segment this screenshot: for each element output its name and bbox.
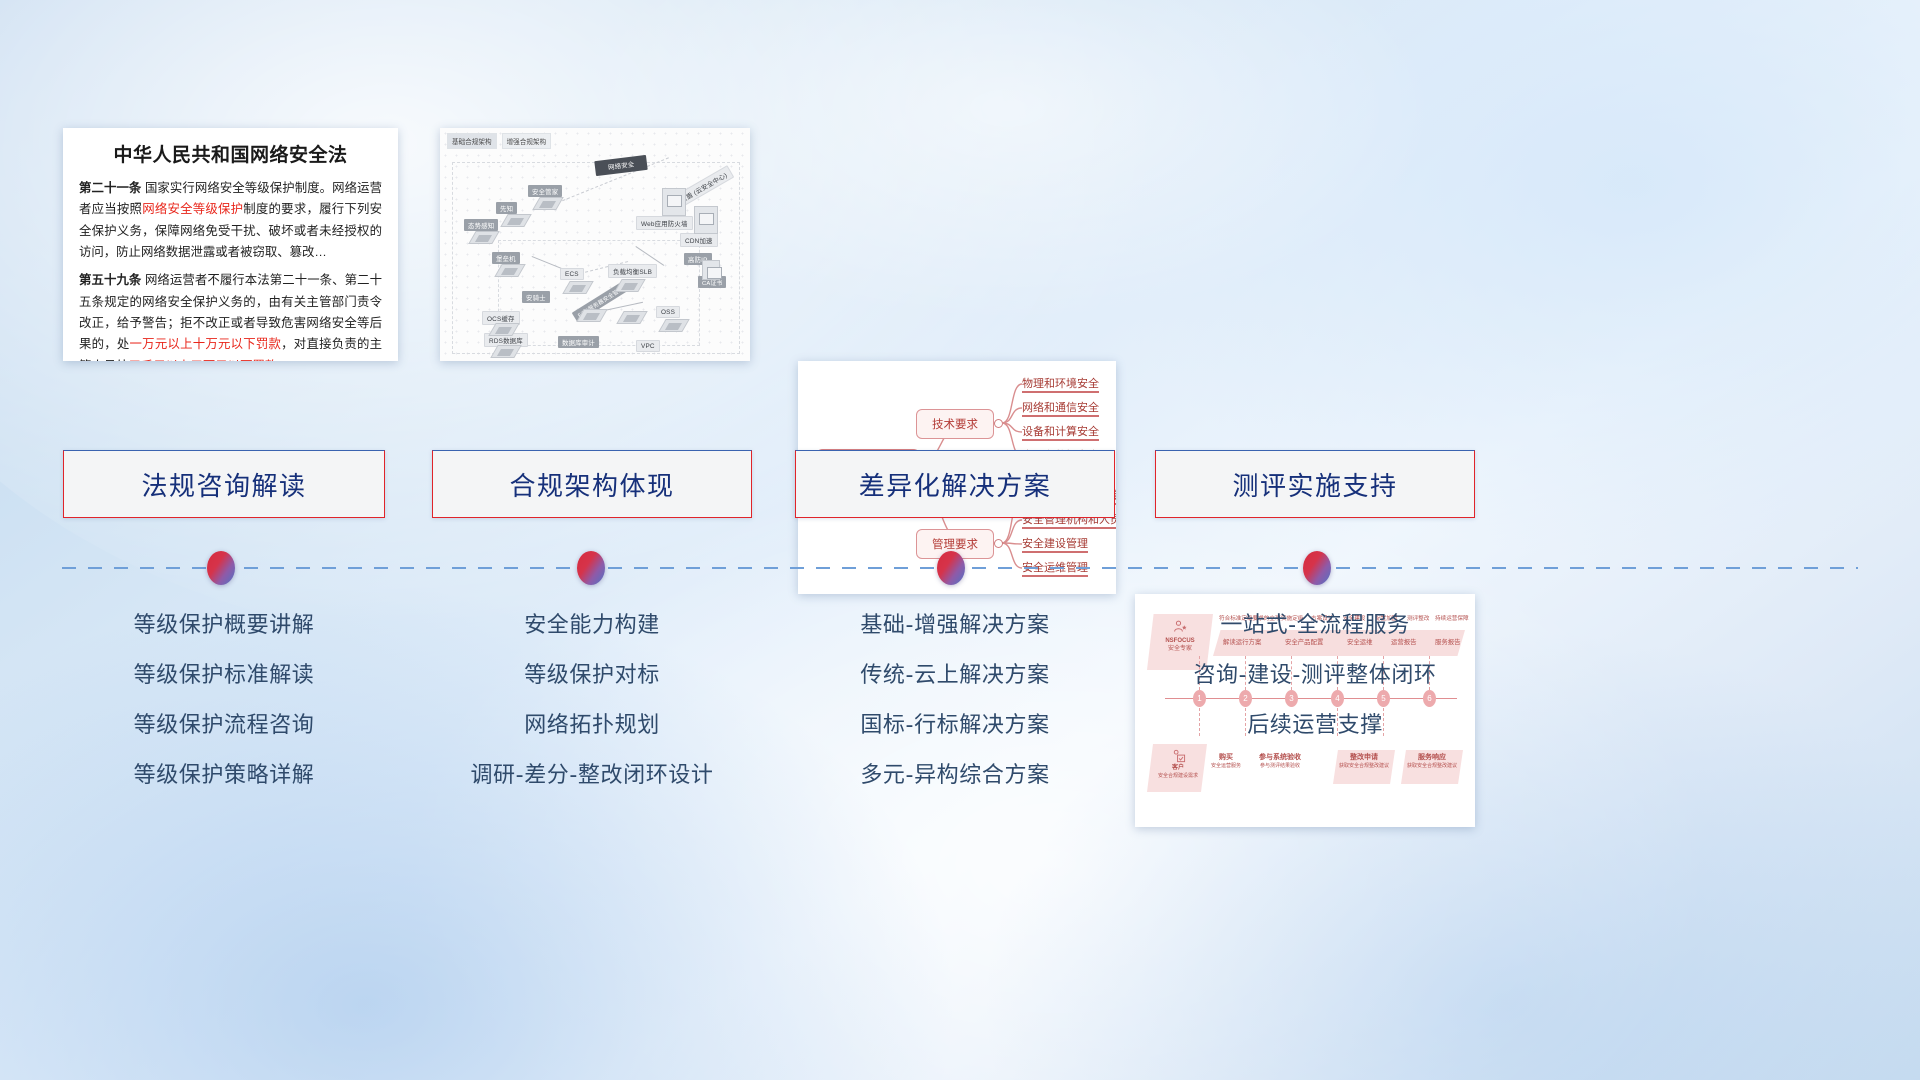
timeline-node-2[interactable] — [577, 551, 605, 585]
header-box-compliance-architecture[interactable]: 合规架构体现 — [432, 450, 752, 518]
list-item: 等级保护对标 — [432, 665, 752, 687]
list-item: 传统-云上解决方案 — [795, 665, 1115, 687]
list-item: 网络拓扑规划 — [432, 715, 752, 737]
header-label-1: 法规咨询解读 — [141, 466, 306, 503]
list-item: 基础-增强解决方案 — [795, 615, 1115, 637]
list-column-3: 基础-增强解决方案 传统-云上解决方案 国标-行标解决方案 多元-异构综合方案 — [795, 615, 1115, 815]
list-column-1: 等级保护概要讲解 等级保护标准解读 等级保护流程咨询 等级保护策略详解 — [63, 615, 385, 815]
list-column-4: 一站式-全流程服务 咨询-建设-测评整体闭环 后续运营支撑 — [1155, 615, 1475, 765]
header-label-2: 合规架构体现 — [509, 466, 674, 503]
list-item: 等级保护策略详解 — [63, 765, 385, 787]
list-item: 等级保护标准解读 — [63, 665, 385, 687]
header-box-differentiated-solution[interactable]: 差异化解决方案 — [795, 450, 1115, 518]
list-item: 调研-差分-整改闭环设计 — [432, 765, 752, 787]
header-label-3: 差异化解决方案 — [859, 466, 1052, 503]
list-item: 一站式-全流程服务 — [1155, 615, 1475, 637]
list-item: 后续运营支撑 — [1155, 715, 1475, 737]
timeline-node-3[interactable] — [937, 551, 965, 585]
list-column-2: 安全能力构建 等级保护对标 网络拓扑规划 调研-差分-整改闭环设计 — [432, 615, 752, 815]
list-item: 多元-异构综合方案 — [795, 765, 1115, 787]
list-item: 安全能力构建 — [432, 615, 752, 637]
list-item: 国标-行标解决方案 — [795, 715, 1115, 737]
header-label-4: 测评实施支持 — [1232, 466, 1397, 503]
header-box-regulation-consulting[interactable]: 法规咨询解读 — [63, 450, 385, 518]
header-box-evaluation-support[interactable]: 测评实施支持 — [1155, 450, 1475, 518]
timeline-node-4[interactable] — [1303, 551, 1331, 585]
list-item: 咨询-建设-测评整体闭环 — [1155, 665, 1475, 687]
list-item: 等级保护流程咨询 — [63, 715, 385, 737]
list-item: 等级保护概要讲解 — [63, 615, 385, 637]
timeline-node-1[interactable] — [207, 551, 235, 585]
